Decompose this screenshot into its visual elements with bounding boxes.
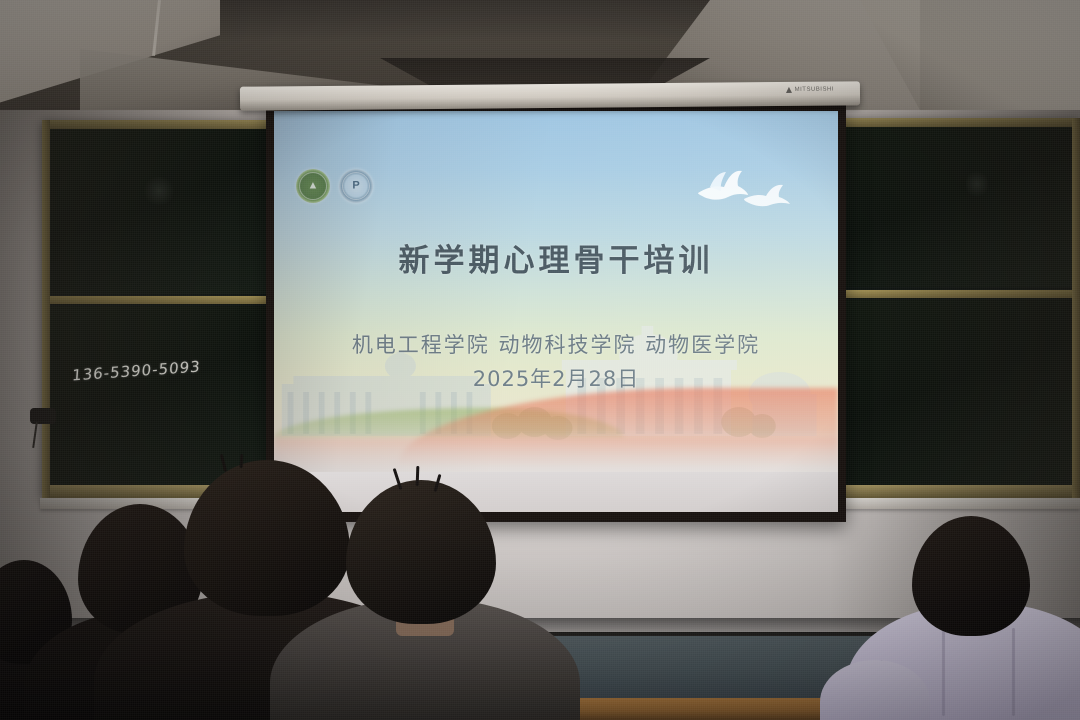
right-blackboard-upper-pane (838, 127, 1072, 287)
dove-group (684, 163, 804, 219)
projector-brand-label: MITSUBISHI (795, 87, 834, 93)
classroom-photo-scene: 136-5390-5093 MITSUBISHI ▲ (0, 0, 1080, 720)
blackboard-slide-knob[interactable] (30, 408, 56, 424)
left-blackboard-lower-pane (50, 306, 270, 485)
person-shoulders (820, 660, 930, 720)
emblem-mark: ▲ (308, 181, 319, 192)
projection-screen: ▲ P (266, 104, 846, 522)
right-blackboard-frame-right (1072, 118, 1080, 498)
left-blackboard (42, 120, 278, 498)
right-blackboard (830, 118, 1080, 498)
puffer-seam (1012, 628, 1015, 716)
emblem-mark: P (352, 181, 359, 192)
slide-date: 2025年2月28日 (274, 363, 838, 393)
person-head (912, 516, 1030, 636)
slide-emblem-group: ▲ P (296, 169, 373, 203)
chalk-smudge (966, 169, 988, 199)
chalk-smudge (142, 177, 176, 205)
slide-bottom-fade (274, 430, 838, 472)
right-chalk-tray (828, 498, 1080, 509)
puffer-seam (942, 620, 945, 716)
projector-brand-logo: MITSUBISHI (786, 87, 834, 93)
slide-title: 新学期心理骨干培训 (274, 235, 838, 280)
blue-university-emblem-icon: P (339, 169, 373, 203)
left-blackboard-center-rail (48, 296, 272, 304)
dove-icon (740, 183, 794, 213)
right-blackboard-frame-bottom (830, 485, 1080, 498)
left-blackboard-frame-top (42, 120, 278, 129)
audience-person-center (300, 490, 540, 720)
right-blackboard-frame-top (830, 118, 1080, 127)
right-blackboard-center-rail (836, 290, 1074, 298)
triangle-icon (786, 87, 792, 93)
green-university-emblem-icon: ▲ (296, 169, 330, 203)
person-head (346, 480, 496, 624)
left-blackboard-upper-pane (50, 129, 270, 294)
left-blackboard-frame-left (42, 120, 50, 498)
audience-person-far-right (820, 650, 930, 720)
projection-screen-surface: ▲ P (274, 111, 838, 512)
slide-subtitle: 机电工程学院 动物科技学院 动物医学院 (274, 329, 838, 359)
presentation-slide: ▲ P (274, 111, 838, 472)
right-blackboard-lower-pane (838, 300, 1072, 485)
